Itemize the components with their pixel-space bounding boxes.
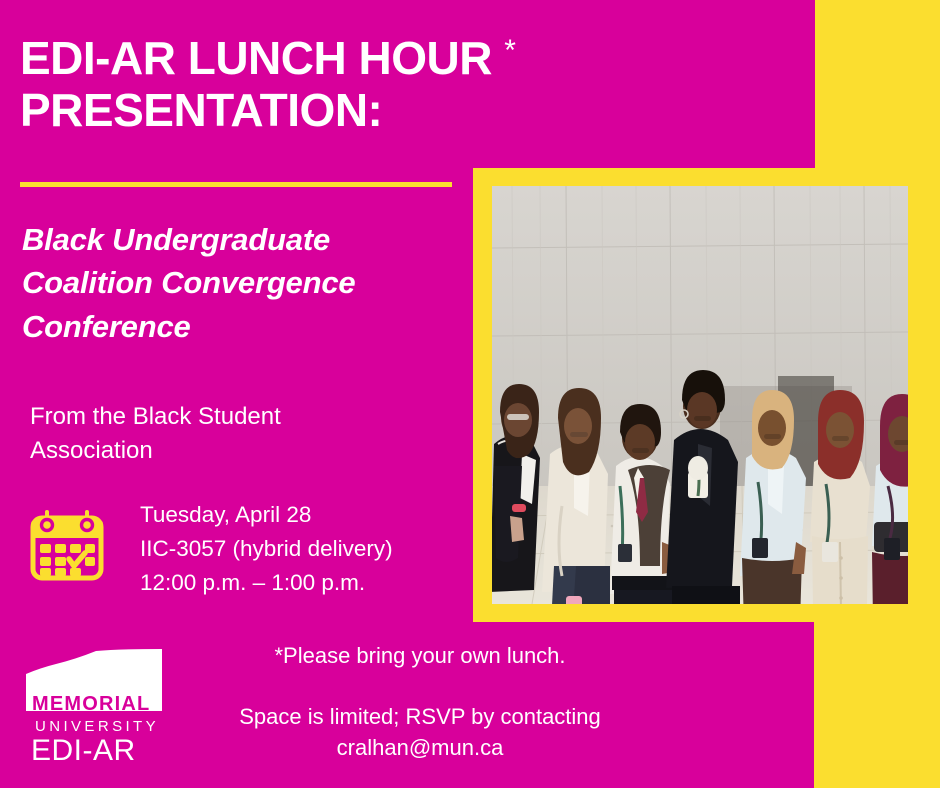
page-title: EDI-AR LUNCH HOUR * PRESENTATION:	[20, 33, 680, 136]
subtitle-line-3: Conference	[22, 305, 462, 348]
title-asterisk: *	[504, 34, 515, 67]
logo-wordmark-university: UNIVERSITY	[35, 718, 159, 735]
group-photo	[492, 186, 908, 604]
event-detail-lines: Tuesday, April 28 IIC-3057 (hybrid deliv…	[140, 498, 470, 601]
event-subtitle: Black Undergraduate Coalition Convergenc…	[22, 218, 462, 348]
yellow-accent-footer-block	[814, 622, 940, 788]
presenter-credit: From the Black Student Association	[30, 400, 360, 468]
logo-wordmark-edi-ar: EDI-AR	[31, 734, 136, 767]
subtitle-line-2: Coalition Convergence	[22, 261, 462, 304]
presenter-line-2: Association	[30, 434, 360, 468]
logo-wordmark-memorial: MEMORIAL	[32, 693, 150, 715]
event-location: IIC-3057 (hybrid delivery)	[140, 532, 470, 566]
title-line-1: EDI-AR LUNCH HOUR	[20, 32, 492, 84]
memorial-university-edi-ar-logo: MEMORIAL UNIVERSITY EDI-AR	[24, 648, 164, 768]
note-bring-lunch: *Please bring your own lunch.	[185, 640, 655, 671]
calendar-icon	[28, 506, 106, 582]
note-rsvp-line-1: Space is limited; RSVP by contacting	[185, 701, 655, 732]
event-time: 12:00 p.m. – 1:00 p.m.	[140, 566, 470, 600]
event-date: Tuesday, April 28	[140, 498, 470, 532]
title-divider-rule	[20, 182, 452, 187]
title-line-2: PRESENTATION:	[20, 84, 382, 136]
footer-notes: *Please bring your own lunch. Space is l…	[185, 640, 655, 764]
subtitle-line-1: Black Undergraduate	[22, 218, 462, 261]
note-rsvp-email: cralhan@mun.ca	[185, 732, 655, 763]
poster-canvas: EDI-AR LUNCH HOUR * PRESENTATION: Black …	[0, 0, 940, 788]
presenter-line-1: From the Black Student	[30, 400, 360, 434]
